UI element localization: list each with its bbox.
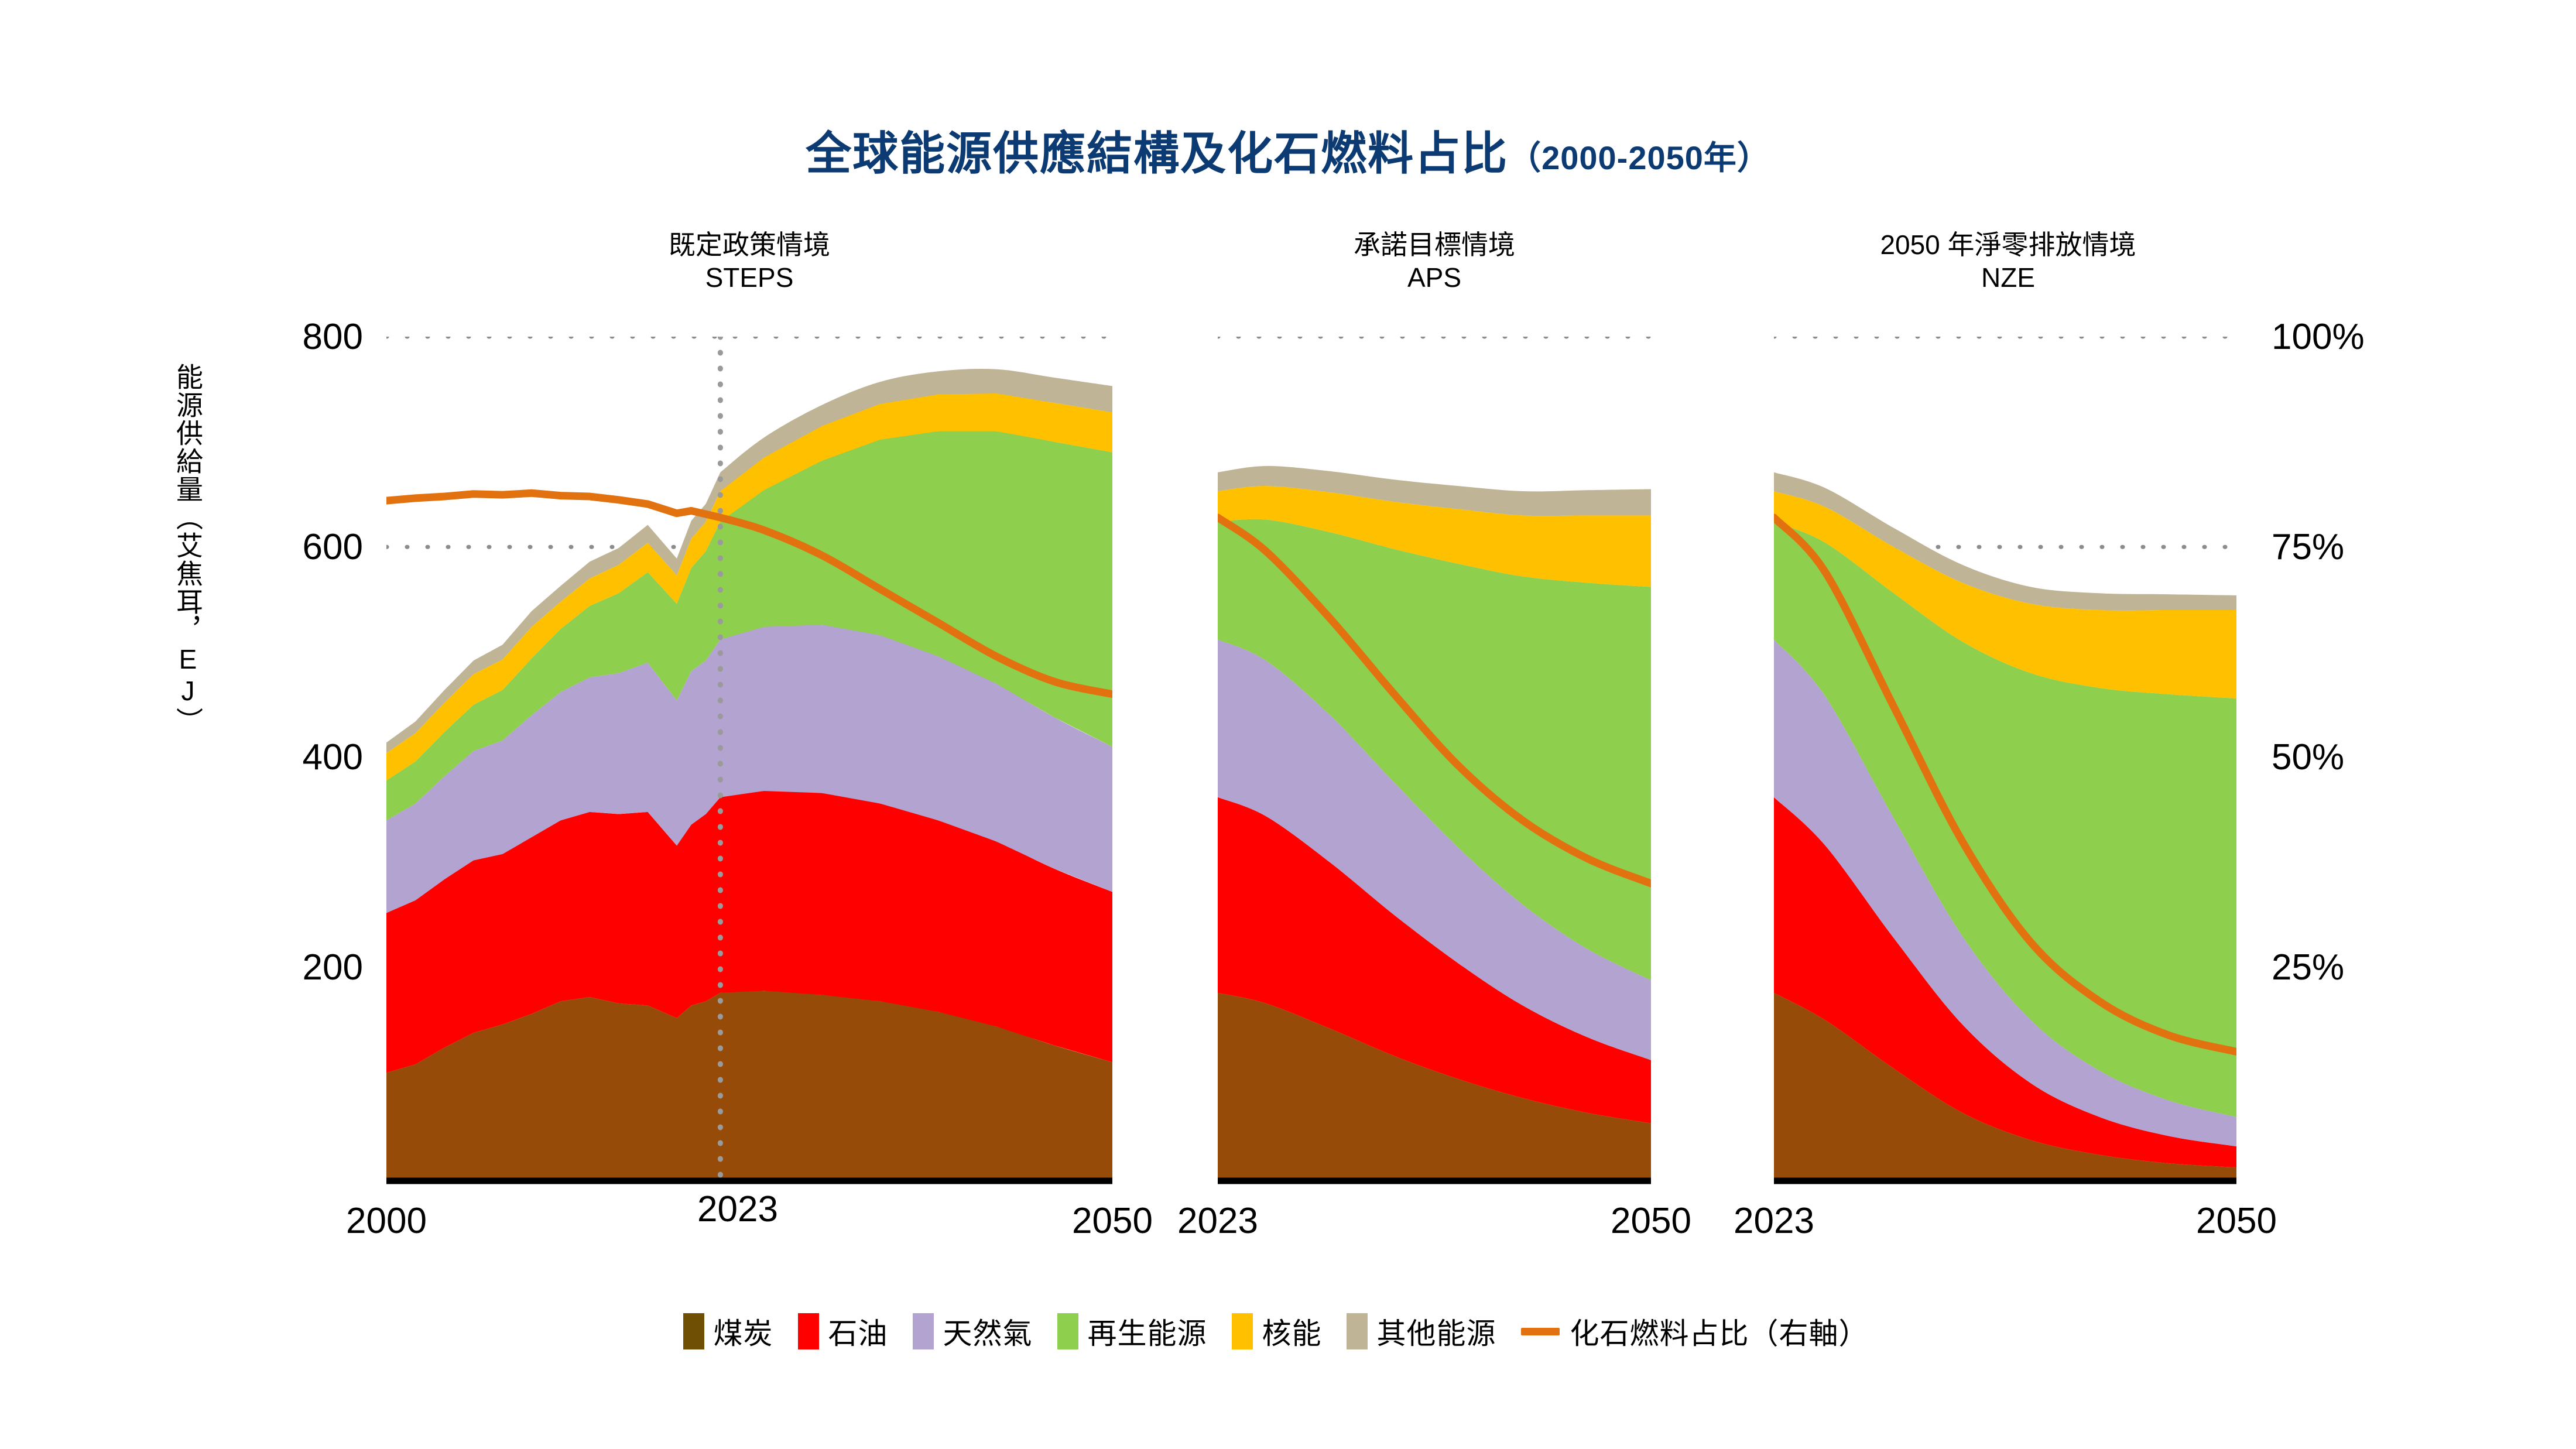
plot-panel-steps bbox=[386, 337, 1112, 1186]
legend-item-5[interactable]: 其他能源 bbox=[1347, 1310, 1496, 1352]
legend-color-swatch bbox=[683, 1313, 704, 1349]
plot-panel-aps bbox=[1218, 337, 1651, 1186]
y2-tick-75: 75% bbox=[2272, 526, 2447, 568]
plot-panel-nze bbox=[1774, 337, 2236, 1186]
legend-label: 化石燃料占比（右軸） bbox=[1570, 1310, 1869, 1352]
legend-label: 核能 bbox=[1262, 1310, 1322, 1352]
y2-tick-25: 25% bbox=[2272, 947, 2447, 988]
y2-tick-50: 50% bbox=[2272, 737, 2447, 778]
legend-label: 煤炭 bbox=[714, 1310, 773, 1352]
x-tick-p2-2023: 2023 bbox=[1130, 1200, 1306, 1242]
legend-item-6[interactable]: 化石燃料占比（右軸） bbox=[1521, 1310, 1869, 1352]
panel-title-aps: 承諾目標情境 APS bbox=[1288, 228, 1581, 294]
y-tick-200: 200 bbox=[211, 947, 363, 988]
panel-title-steps-zh: 既定政策情境 bbox=[603, 228, 896, 261]
legend-color-swatch bbox=[1347, 1313, 1368, 1349]
x-tick-p1-2023: 2023 bbox=[650, 1188, 825, 1230]
y-tick-600: 600 bbox=[211, 526, 363, 568]
legend-label: 再生能源 bbox=[1088, 1310, 1207, 1352]
y2-tick-100: 100% bbox=[2272, 316, 2447, 358]
y-tick-800: 800 bbox=[211, 316, 363, 358]
panel-svg bbox=[1218, 337, 1651, 1186]
legend-item-3[interactable]: 再生能源 bbox=[1057, 1310, 1207, 1352]
panel-svg bbox=[1774, 337, 2236, 1186]
legend-label: 其他能源 bbox=[1377, 1310, 1496, 1352]
panel-title-nze-zh: 2050 年淨零排放情境 bbox=[1821, 228, 2195, 261]
legend-label: 天然氣 bbox=[943, 1310, 1033, 1352]
panel-title-nze: 2050 年淨零排放情境 NZE bbox=[1821, 228, 2195, 294]
legend-color-swatch bbox=[1232, 1313, 1253, 1349]
chart-canvas: 全球能源供應結構及化石燃料占比（2000-2050年） 既定政策情境 STEPS… bbox=[0, 0, 2576, 1449]
panel-title-aps-zh: 承諾目標情境 bbox=[1288, 228, 1581, 261]
panel-title-steps-en: STEPS bbox=[603, 261, 896, 294]
legend-item-0[interactable]: 煤炭 bbox=[683, 1310, 773, 1352]
y-tick-400: 400 bbox=[211, 737, 363, 778]
panel-svg bbox=[386, 337, 1112, 1186]
x-tick-p3-2050: 2050 bbox=[2149, 1200, 2324, 1242]
legend-item-4[interactable]: 核能 bbox=[1232, 1310, 1322, 1352]
chart-title-sub: （2000-2050年） bbox=[1508, 139, 1770, 176]
y-axis-label: 能源供給量（艾焦耳，EJ） bbox=[132, 363, 202, 735]
panel-title-aps-en: APS bbox=[1288, 261, 1581, 294]
legend-color-swatch bbox=[913, 1313, 934, 1349]
chart-title: 全球能源供應結構及化石燃料占比（2000-2050年） bbox=[0, 117, 2576, 183]
legend-item-1[interactable]: 石油 bbox=[798, 1310, 888, 1352]
x-tick-p1-2000: 2000 bbox=[299, 1200, 474, 1242]
chart-title-main: 全球能源供應結構及化石燃料占比 bbox=[806, 128, 1508, 179]
panel-title-nze-en: NZE bbox=[1821, 261, 2195, 294]
legend-label: 石油 bbox=[828, 1310, 888, 1352]
panel-title-steps: 既定政策情境 STEPS bbox=[603, 228, 896, 294]
legend-item-2[interactable]: 天然氣 bbox=[913, 1310, 1033, 1352]
x-tick-p3-2023: 2023 bbox=[1686, 1200, 1862, 1242]
legend-color-swatch bbox=[798, 1313, 819, 1349]
legend-color-swatch bbox=[1057, 1313, 1078, 1349]
chart-legend: 煤炭石油天然氣再生能源核能其他能源化石燃料占比（右軸） bbox=[0, 1310, 2576, 1352]
legend-line-swatch bbox=[1521, 1328, 1560, 1335]
